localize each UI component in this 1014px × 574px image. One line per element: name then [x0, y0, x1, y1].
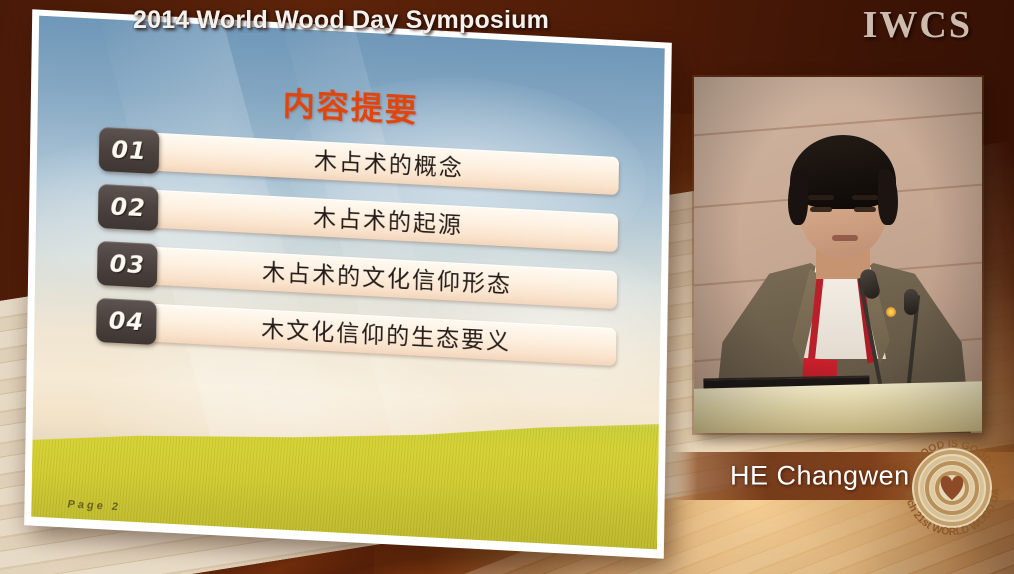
wwd-logo-svg: · WOOD IS GOOD · · March 21st WORLD WOOD… [893, 428, 1011, 546]
agenda-number: 03 [109, 250, 145, 280]
agenda-label: 木文化信仰的生态要义 [166, 305, 606, 366]
agenda-label: 木占术的概念 [169, 134, 609, 195]
agenda-item: 04 木文化信仰的生态要义 [96, 298, 616, 369]
agenda-label: 木占术的起源 [168, 191, 608, 252]
agenda-number-badge: 04 [96, 298, 157, 345]
speaker-eyebrow [852, 195, 878, 200]
agenda-number: 02 [110, 193, 146, 223]
agenda-label: 木占术的文化信仰形态 [167, 248, 607, 309]
speaker-eye [854, 207, 876, 212]
speaker-hair-side [788, 169, 808, 225]
speaker-eyebrow [808, 195, 834, 200]
agenda-number: 04 [108, 306, 144, 336]
lapel-pin-icon [886, 307, 896, 317]
presentation-slide: 内容提要 01 木占术的概念 02 木占术的起源 [24, 9, 672, 558]
speaker-name: HE Changwen [730, 461, 910, 492]
presentation-video-screen: 2014 World Wood Day Symposium IWCS 内容提要 [0, 0, 1014, 574]
speaker-mouth [832, 235, 858, 241]
podium-surface [694, 381, 982, 433]
agenda-number-badge: 02 [98, 184, 159, 231]
speaker-video-feed[interactable] [694, 77, 982, 433]
world-wood-day-logo: · WOOD IS GOOD · · March 21st WORLD WOOD… [893, 428, 1011, 546]
symposium-title: 2014 World Wood Day Symposium [133, 6, 549, 35]
slide-content: 内容提要 01 木占术的概念 02 木占术的起源 [31, 16, 664, 550]
microphone-icon [904, 289, 918, 315]
grass-field [31, 390, 664, 549]
agenda-number-badge: 01 [99, 127, 160, 174]
iwcs-logo: IWCS [863, 3, 972, 47]
agenda-number-badge: 03 [97, 241, 158, 288]
speaker-eye [810, 207, 832, 212]
agenda-number: 01 [111, 136, 147, 166]
agenda-list: 01 木占术的概念 02 木占术的起源 03 [96, 127, 619, 382]
slide-paper: 内容提要 01 木占术的概念 02 木占术的起源 [24, 9, 672, 558]
